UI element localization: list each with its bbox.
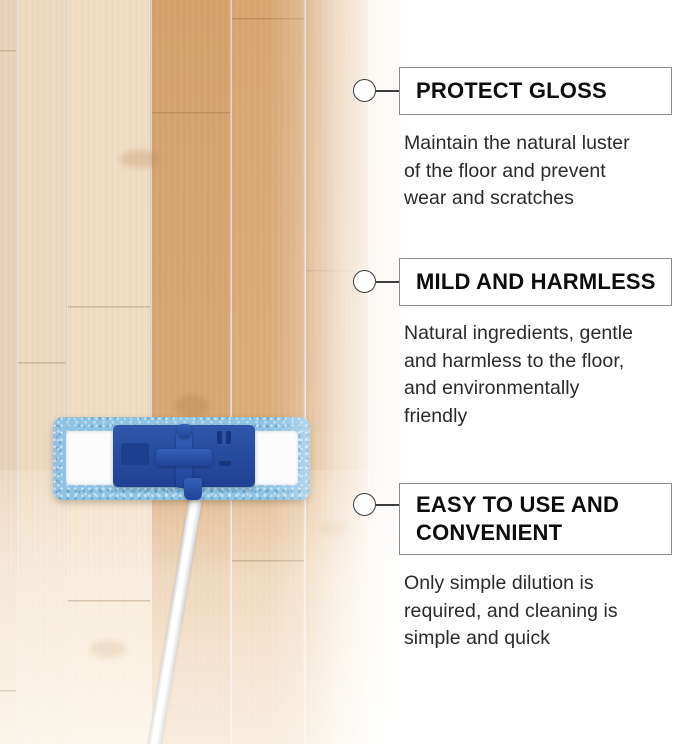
callout-bullet-icon [353,270,376,293]
callout-body-line: wear and scratches [404,185,672,213]
callout-body-line: Maintain the natural luster [404,130,672,158]
callout-connector-line [376,504,399,506]
callout-body-line: of the floor and prevent [404,158,672,186]
callout-body-line: simple and quick [404,625,672,653]
callout-body-line: and environmentally [404,375,672,403]
board-joint [0,690,16,692]
callout-body-line: friendly [404,403,672,431]
board-joint [0,50,16,52]
board-joint [68,600,150,602]
callout-title-line: EASY TO USE AND [416,491,619,519]
callout-body-line: required, and cleaning is [404,598,672,626]
floor-upper-warmth [150,0,370,430]
callout-bullet-icon [353,493,376,516]
wood-knot [120,150,160,168]
callout-title-line: CONVENIENT [416,519,619,547]
wood-knot [90,640,126,658]
mop-swivel-neck [184,478,202,500]
mop-frame-notch [121,443,149,465]
callout-connector-line [376,90,399,92]
wood-knot [175,395,209,417]
callout-body: Maintain the natural luster of the floor… [404,130,672,213]
board-joint [68,306,150,308]
callout-body: Natural ingredients, gentle and harmless… [404,320,672,431]
callout-body-line: Natural ingredients, gentle [404,320,672,348]
callout-title-box: MILD AND HARMLESS [399,258,672,306]
mop-frame-slot [219,461,231,466]
callout-connector-line [376,281,399,283]
callout-title: PROTECT GLOSS [400,77,617,105]
callout-title-box: PROTECT GLOSS [399,67,672,115]
mop-frame-slot [226,431,231,444]
mop-frame-slot [217,431,222,444]
callout-bullet-icon [353,79,376,102]
mop-swivel-horizontal [156,449,212,466]
infographic-page: PROTECT GLOSS Maintain the natural luste… [0,0,679,744]
callout-body: Only simple dilution is required, and cl… [404,570,672,653]
mop-swivel-cap [178,424,191,438]
board-joint [232,18,304,20]
product-photo [0,0,430,744]
callout-title-box: EASY TO USE AND CONVENIENT [399,483,672,555]
callout-body-line: and harmless to the floor, [404,348,672,376]
callout-title: MILD AND HARMLESS [400,268,666,296]
mop-pad-panel-left [66,431,120,485]
board-joint [232,560,304,562]
callout-body-line: Only simple dilution is [404,570,672,598]
board-joint [18,362,66,364]
board-joint [152,112,230,114]
callout-title: EASY TO USE AND CONVENIENT [400,491,629,547]
wood-knot [320,520,348,536]
